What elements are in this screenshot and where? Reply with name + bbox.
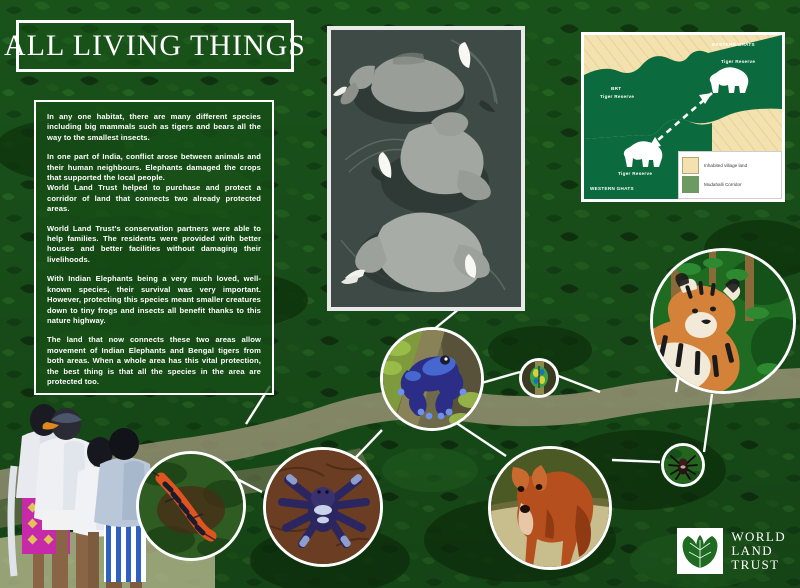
bengal-tiger-icon bbox=[653, 251, 793, 391]
leaf-logo-icon bbox=[677, 528, 723, 574]
paragraph-3: World Land Trust helped to purchase and … bbox=[47, 183, 261, 214]
logo-line-2: LAND bbox=[731, 544, 786, 558]
millipede-icon bbox=[139, 454, 243, 558]
logo-line-1: WORLD bbox=[731, 530, 786, 544]
world-land-trust-logo[interactable]: WORLD LAND TRUST bbox=[677, 528, 786, 574]
paragraph-6: The land that now connects these two are… bbox=[47, 335, 261, 387]
species-node-tarantula[interactable] bbox=[263, 447, 383, 567]
map-legend: Inhabited village land Mudahalli Corrido… bbox=[678, 151, 782, 199]
species-node-tiger[interactable] bbox=[650, 248, 796, 394]
paragraph-4: World Land Trust's conservation partners… bbox=[47, 224, 261, 266]
species-node-frog[interactable] bbox=[380, 327, 484, 431]
description-panel: In any one habitat, there are many diffe… bbox=[34, 100, 274, 395]
species-node-spider[interactable] bbox=[661, 443, 705, 487]
poster-title: ALL LIVING THINGS bbox=[16, 20, 294, 72]
poster-canvas: ALL LIVING THINGS In any one habitat, th… bbox=[0, 0, 800, 588]
page-title: ALL LIVING THINGS bbox=[4, 29, 306, 63]
species-node-beetle[interactable] bbox=[519, 358, 559, 398]
tarantula-icon bbox=[266, 450, 380, 564]
species-node-millipede[interactable] bbox=[136, 451, 246, 561]
legend-swatch-corridor-icon bbox=[682, 176, 699, 193]
legend-label-corridor: Mudahalli Corridor bbox=[704, 182, 742, 187]
logo-line-3: TRUST bbox=[731, 558, 786, 572]
corridor-map: EASTERN GHATS WESTERN GHATS Tiger Reserv… bbox=[581, 32, 785, 202]
paragraph-2: In one part of India, conflict arose bet… bbox=[47, 152, 261, 183]
paragraph-1: In any one habitat, there are many diffe… bbox=[47, 112, 261, 143]
species-node-dhole[interactable] bbox=[488, 446, 612, 570]
forest-spider-icon bbox=[664, 446, 702, 484]
logo-wordmark: WORLD LAND TRUST bbox=[731, 530, 786, 572]
dhole-icon bbox=[491, 449, 609, 567]
legend-row-corridor: Mudahalli Corridor bbox=[682, 176, 778, 193]
jewel-beetle-icon bbox=[522, 361, 556, 395]
elephant-illustration-panel bbox=[327, 26, 525, 311]
poison-dart-frog-icon bbox=[383, 330, 481, 428]
elephant-herd-icon bbox=[331, 30, 521, 307]
legend-row-village: Inhabited village land bbox=[682, 157, 778, 174]
paragraph-5: With Indian Elephants being a very much … bbox=[47, 274, 261, 326]
legend-swatch-village-icon bbox=[682, 157, 699, 174]
legend-label-village: Inhabited village land bbox=[704, 163, 747, 168]
